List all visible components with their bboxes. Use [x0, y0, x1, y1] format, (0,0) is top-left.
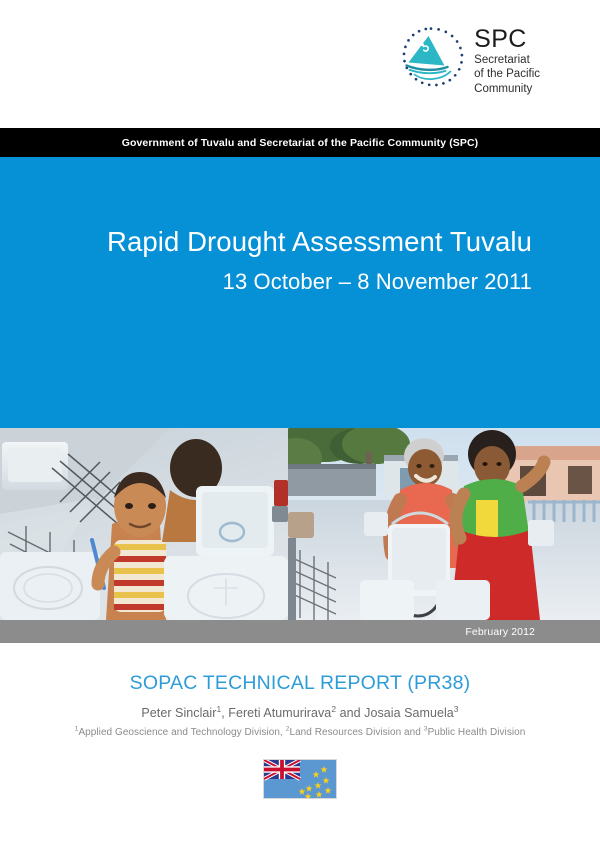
affiliation-list: 1Applied Geoscience and Technology Divis… — [0, 727, 600, 738]
spc-logo-wordmark: SPC Secretariat of the Pacific Community — [474, 24, 540, 96]
header-band: SPC Secretariat of the Pacific Community — [0, 0, 600, 128]
spc-name-line-3: Community — [474, 82, 540, 96]
spc-logo: SPC Secretariat of the Pacific Community — [397, 24, 540, 96]
cover-photo-strip — [0, 428, 600, 620]
author-separator-2: and — [336, 706, 364, 720]
page-title: Rapid Drought Assessment Tuvalu — [107, 225, 532, 258]
title-panel: Rapid Drought Assessment Tuvalu 13 Octob… — [0, 157, 600, 428]
women-with-water-buckets-photo — [288, 428, 600, 620]
footer-block: SOPAC TECHNICAL REPORT (PR38) Peter Sinc… — [0, 643, 600, 849]
spc-name-line-1: Secretariat — [474, 53, 540, 67]
affiliation-1: Applied Geoscience and Technology Divisi… — [78, 727, 285, 738]
author-marker-3: 3 — [454, 704, 459, 714]
title-block: Rapid Drought Assessment Tuvalu 13 Octob… — [107, 225, 532, 295]
publication-date: February 2012 — [465, 626, 600, 638]
government-banner: Government of Tuvalu and Secretariat of … — [0, 128, 600, 157]
report-series-title: SOPAC TECHNICAL REPORT (PR38) — [0, 672, 600, 695]
author-name-3: Josaia Samuela — [364, 706, 454, 720]
spc-name-line-2: of the Pacific — [474, 67, 540, 81]
child-with-water-containers-photo — [0, 428, 288, 620]
government-banner-text: Government of Tuvalu and Secretariat of … — [122, 137, 479, 149]
author-name-1: Peter Sinclair — [141, 706, 216, 720]
flag-container — [0, 759, 600, 799]
publication-date-bar: February 2012 — [0, 620, 600, 643]
author-list: Peter Sinclair1, Fereti Atumurirava2 and… — [0, 706, 600, 720]
document-cover-page: SPC Secretariat of the Pacific Community… — [0, 0, 600, 849]
affiliation-3: Public Health Division — [428, 727, 526, 738]
author-name-2: Fereti Atumurirava — [228, 706, 331, 720]
spc-canoe-sail-logo-icon — [397, 24, 465, 92]
spc-acronym: SPC — [474, 26, 540, 53]
affiliation-2: Land Resources Division and — [289, 727, 423, 738]
page-subtitle: 13 October – 8 November 2011 — [107, 269, 532, 295]
tuvalu-flag-icon — [263, 759, 337, 799]
